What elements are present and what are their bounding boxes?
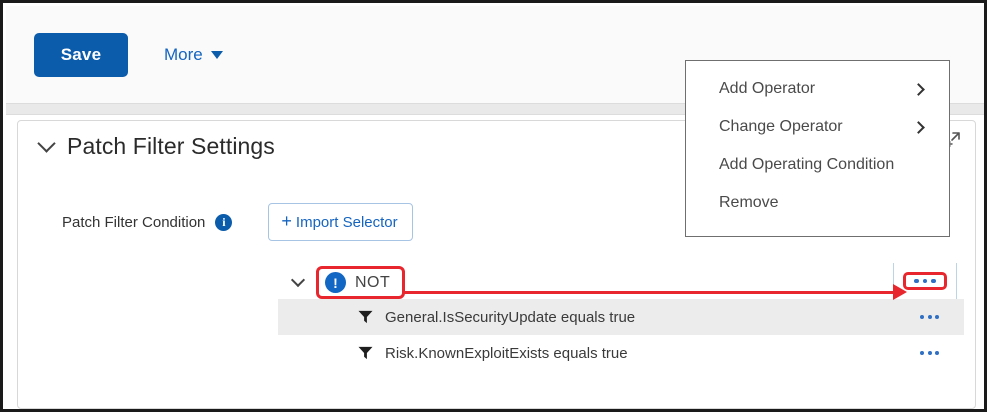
menu-item-add-operating-condition[interactable]: Add Operating Condition bbox=[686, 146, 949, 184]
chevron-down-icon bbox=[37, 134, 55, 152]
condition-text: Risk.KnownExploitExists equals true bbox=[385, 345, 628, 362]
menu-item-label: Add Operating Condition bbox=[719, 156, 894, 174]
menu-item-add-operator[interactable]: Add Operator bbox=[686, 70, 949, 108]
more-options-icon[interactable] bbox=[920, 315, 939, 319]
import-selector-button[interactable]: +Import Selector bbox=[268, 203, 412, 241]
caret-down-icon bbox=[211, 51, 223, 59]
red-arrow-head-icon bbox=[893, 284, 907, 300]
save-button[interactable]: Save bbox=[34, 33, 128, 77]
more-options-icon[interactable] bbox=[920, 351, 939, 355]
plus-icon: + bbox=[281, 211, 292, 231]
condition-text: General.IsSecurityUpdate equals true bbox=[385, 309, 635, 326]
condition-label-wrap: General.IsSecurityUpdate equals true bbox=[278, 309, 635, 326]
info-icon[interactable]: i bbox=[215, 214, 232, 231]
more-options-icon[interactable] bbox=[903, 272, 947, 291]
funnel-icon bbox=[358, 310, 373, 324]
red-arrow-icon bbox=[403, 291, 900, 294]
chevron-down-icon[interactable] bbox=[291, 273, 305, 287]
menu-item-label: Change Operator bbox=[719, 118, 843, 136]
menu-item-change-operator[interactable]: Change Operator bbox=[686, 108, 949, 146]
funnel-icon bbox=[358, 346, 373, 360]
more-dropdown-button[interactable]: More bbox=[164, 45, 223, 65]
context-menu: Add Operator Change Operator Add Operati… bbox=[685, 60, 950, 237]
menu-item-label: Add Operator bbox=[719, 80, 815, 98]
more-dropdown-label: More bbox=[164, 45, 203, 65]
operator-label: NOT bbox=[355, 274, 390, 292]
patch-filter-condition-label: Patch Filter Condition bbox=[62, 214, 205, 231]
menu-item-remove[interactable]: Remove bbox=[686, 184, 949, 222]
patch-filter-condition-row: Patch Filter Condition i +Import Selecto… bbox=[62, 203, 413, 241]
condition-label-wrap: Risk.KnownExploitExists equals true bbox=[278, 345, 628, 362]
exclamation-circle-icon: ! bbox=[325, 272, 346, 293]
chevron-right-icon bbox=[912, 121, 925, 134]
chevron-right-icon bbox=[912, 83, 925, 96]
screenshot-frame: Save More Patch Filter Settings Patch Fi… bbox=[0, 0, 987, 412]
menu-item-label: Remove bbox=[719, 194, 779, 212]
tree-row-condition[interactable]: Risk.KnownExploitExists equals true bbox=[278, 335, 964, 371]
page-title: Patch Filter Settings bbox=[67, 133, 275, 160]
section-header[interactable]: Patch Filter Settings bbox=[40, 133, 275, 160]
import-selector-label: Import Selector bbox=[296, 214, 398, 231]
operator-chip-not[interactable]: ! NOT bbox=[316, 266, 405, 299]
tree-row-condition[interactable]: General.IsSecurityUpdate equals true bbox=[278, 299, 964, 335]
filter-condition-tree: ! NOT General.IsSecurityUpdate equals tr… bbox=[278, 263, 964, 371]
